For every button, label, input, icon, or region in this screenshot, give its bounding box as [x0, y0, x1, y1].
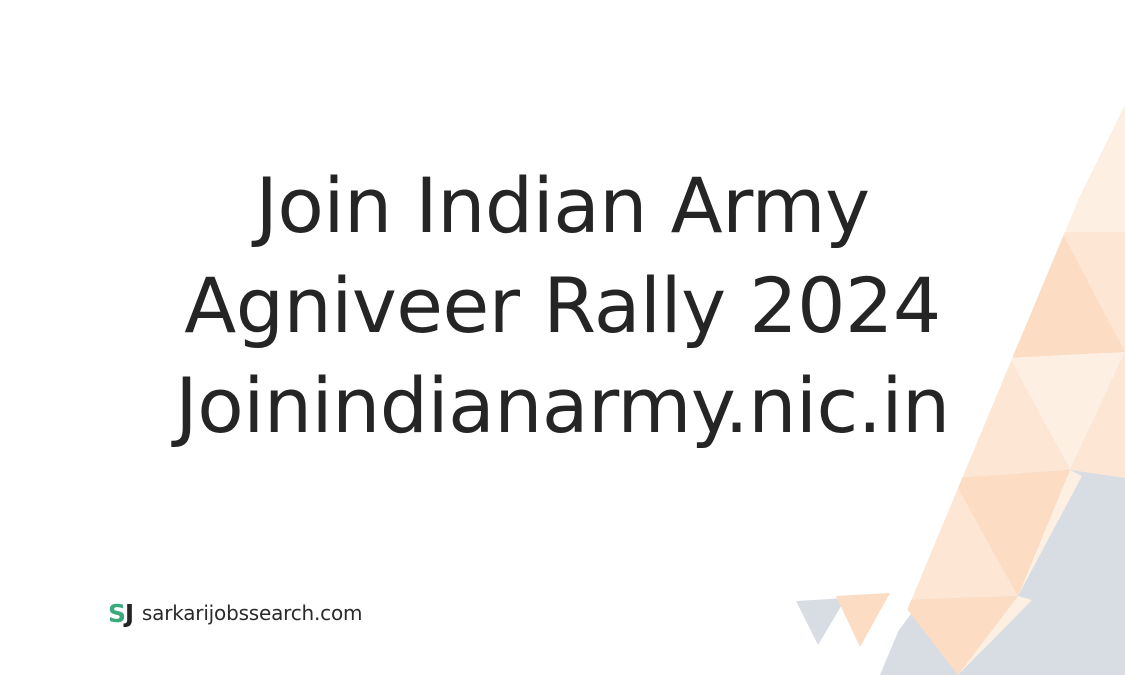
headline-line-1: Join Indian Army — [0, 168, 1125, 244]
site-logo: SJ sarkarijobssearch.com — [108, 596, 362, 630]
logo-letter-s: S — [108, 599, 125, 628]
headline-line-3: Joinindianarmy.nic.in — [0, 368, 1125, 444]
banner-content: Join Indian Army Agniveer Rally 2024 Joi… — [0, 0, 1125, 675]
logo-site-name: sarkarijobssearch.com — [142, 603, 362, 623]
banner-image: Join Indian Army Agniveer Rally 2024 Joi… — [0, 0, 1125, 675]
headline-line-2: Agniveer Rally 2024 — [0, 268, 1125, 344]
logo-letter-j: J — [125, 599, 133, 628]
sj-monogram-icon: SJ — [108, 601, 133, 626]
